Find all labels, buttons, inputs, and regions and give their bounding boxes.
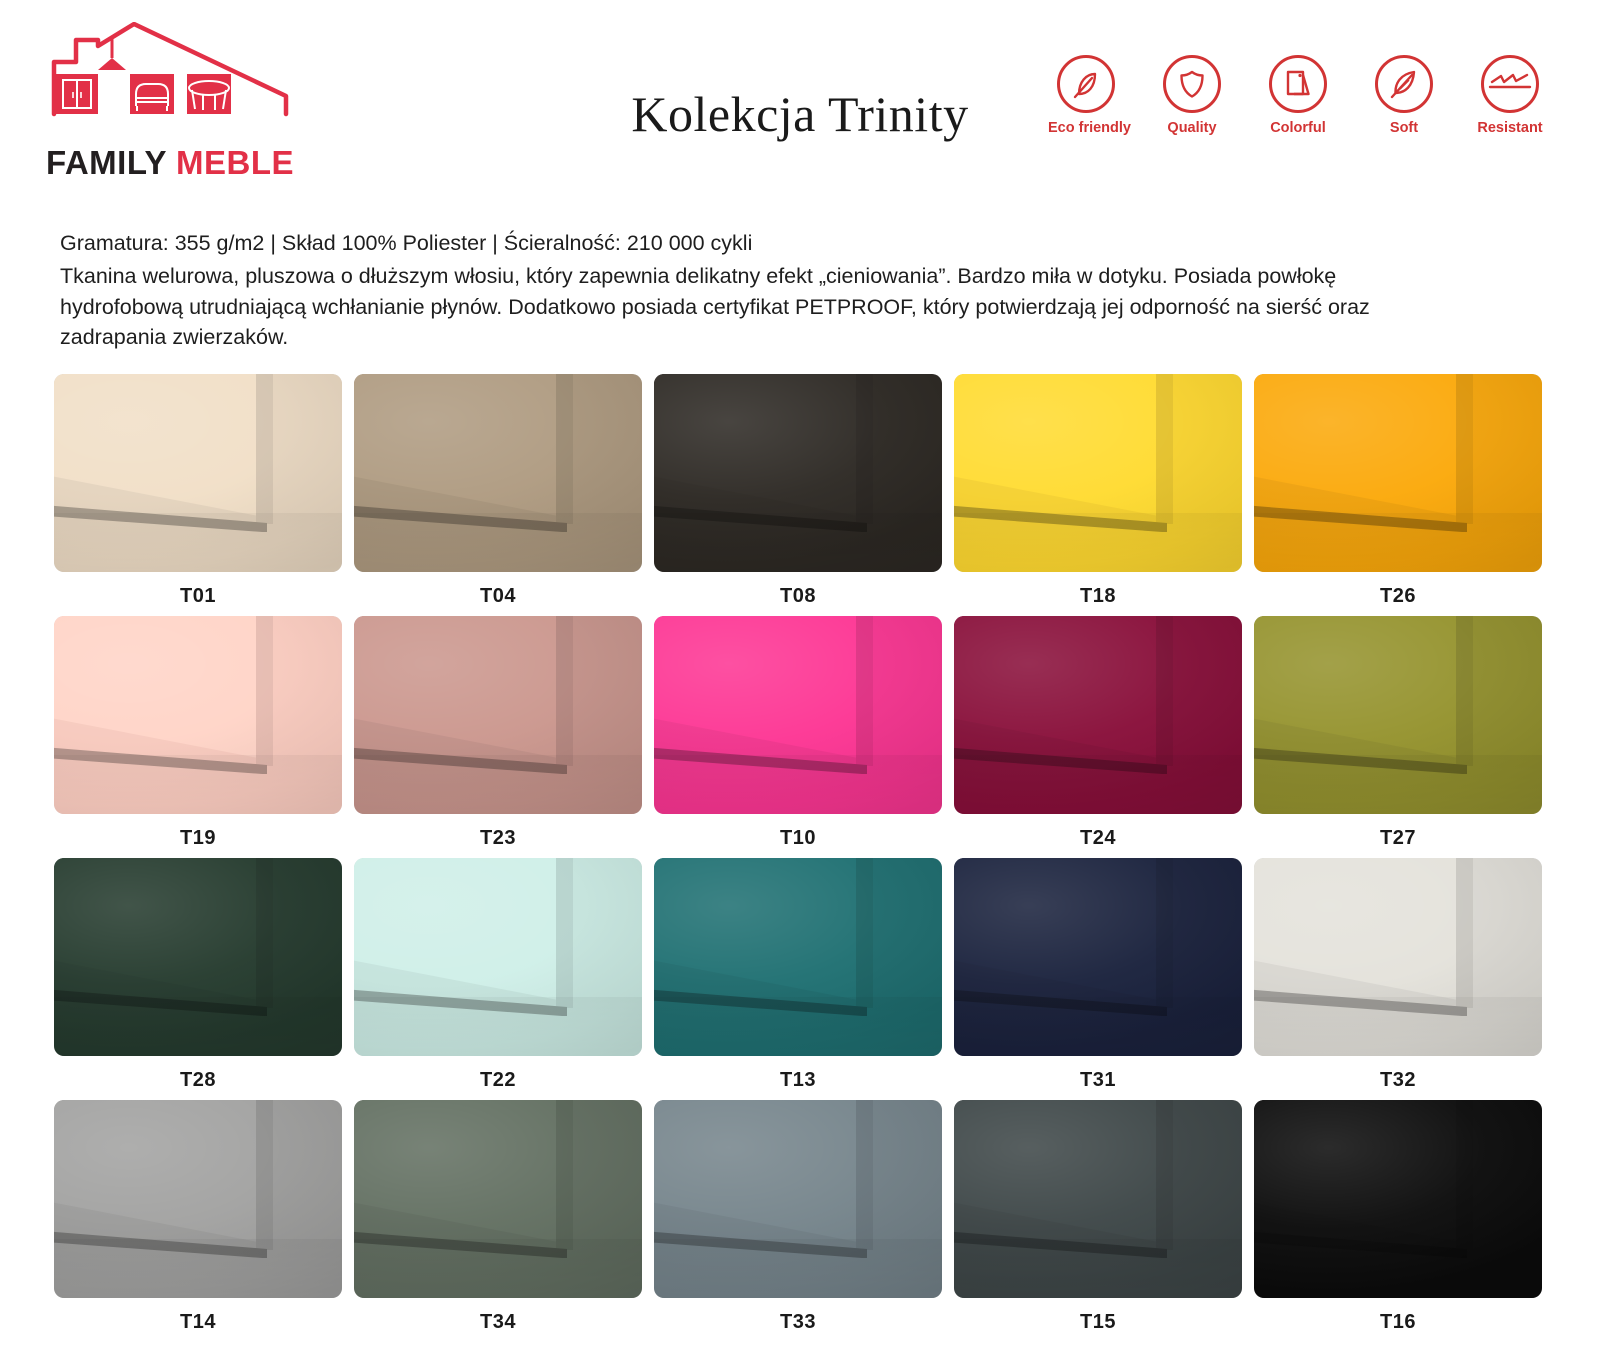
swatch-cell: T34: [354, 1100, 642, 1334]
swatch-cell: T13: [654, 858, 942, 1092]
swatch-code-label: T16: [1254, 1298, 1542, 1334]
swatch-cell: T33: [654, 1100, 942, 1334]
swatch-sheen: [654, 374, 942, 572]
swatch-cell: T19: [54, 616, 342, 850]
swatch-sheen: [54, 858, 342, 1056]
fabric-swatch[interactable]: [654, 1100, 942, 1298]
swatch-cell: T23: [354, 616, 642, 850]
fabric-swatch[interactable]: [54, 858, 342, 1056]
swatch-cell: T15: [954, 1100, 1242, 1334]
feather-icon: [1375, 55, 1433, 113]
swatch-code-label: T08: [654, 572, 942, 608]
shield-icon: [1163, 55, 1221, 113]
swatch-row: T01T04T08T18T26: [54, 374, 1548, 608]
badge-eco-friendly: Eco friendly: [1048, 55, 1124, 136]
fabric-swatch[interactable]: [654, 616, 942, 814]
fabric-description-text: Tkanina welurowa, pluszowa o dłuższym wł…: [60, 261, 1430, 353]
fabric-swatch[interactable]: [954, 1100, 1242, 1298]
fabric-swatch[interactable]: [54, 374, 342, 572]
swatch-cell: T01: [54, 374, 342, 608]
swatch-row: T28T22T13T31T32: [54, 858, 1548, 1092]
color-swatch-icon: [1269, 55, 1327, 113]
fabric-swatch[interactable]: [1254, 1100, 1542, 1298]
swatch-code-label: T10: [654, 814, 942, 850]
swatch-code-label: T32: [1254, 1056, 1542, 1092]
fabric-swatch[interactable]: [354, 374, 642, 572]
swatch-row: T14T34T33T15T16: [54, 1100, 1548, 1334]
swatch-code-label: T26: [1254, 572, 1542, 608]
swatch-sheen: [654, 616, 942, 814]
brand-wordmark: FAMILY MEBLE: [46, 146, 346, 179]
swatch-code-label: T18: [954, 572, 1242, 608]
swatch-sheen: [354, 1100, 642, 1298]
badge-label: Resistant: [1472, 120, 1548, 136]
swatch-cell: T04: [354, 374, 642, 608]
fabric-swatch[interactable]: [54, 616, 342, 814]
swatch-sheen: [354, 616, 642, 814]
swatch-sheen: [654, 858, 942, 1056]
swatch-cell: T08: [654, 374, 942, 608]
brand-name-meble: MEBLE: [176, 144, 294, 181]
zigzag-wave-icon: [1481, 55, 1539, 113]
fabric-swatch[interactable]: [354, 858, 642, 1056]
swatch-sheen: [354, 858, 642, 1056]
fabric-swatch[interactable]: [954, 616, 1242, 814]
swatch-code-label: T28: [54, 1056, 342, 1092]
swatch-sheen: [954, 616, 1242, 814]
swatch-code-label: T33: [654, 1298, 942, 1334]
swatch-code-label: T13: [654, 1056, 942, 1092]
badge-resistant: Resistant: [1472, 55, 1548, 136]
fabric-swatch[interactable]: [354, 1100, 642, 1298]
swatch-sheen: [1254, 374, 1542, 572]
swatch-sheen: [54, 374, 342, 572]
brand-name-family: FAMILY: [46, 144, 166, 181]
page-header: FAMILY MEBLE Kolekcja Trinity Eco friend…: [0, 0, 1600, 200]
brand-logo[interactable]: FAMILY MEBLE: [46, 22, 346, 179]
swatch-code-label: T22: [354, 1056, 642, 1092]
badge-label: Quality: [1154, 120, 1230, 136]
fabric-swatch[interactable]: [654, 374, 942, 572]
swatch-code-label: T04: [354, 572, 642, 608]
swatch-sheen: [954, 858, 1242, 1056]
feature-badges: Eco friendly Quality C: [1048, 55, 1548, 136]
swatch-cell: T10: [654, 616, 942, 850]
swatch-cell: T32: [1254, 858, 1542, 1092]
house-furniture-logo-icon: [46, 22, 294, 142]
swatch-cell: T24: [954, 616, 1242, 850]
swatch-cell: T22: [354, 858, 642, 1092]
swatch-sheen: [354, 374, 642, 572]
swatch-code-label: T01: [54, 572, 342, 608]
swatch-code-label: T15: [954, 1298, 1242, 1334]
swatch-sheen: [1254, 858, 1542, 1056]
swatch-row: T19T23T10T24T27: [54, 616, 1548, 850]
swatch-sheen: [1254, 616, 1542, 814]
fabric-swatch[interactable]: [954, 858, 1242, 1056]
swatch-code-label: T14: [54, 1298, 342, 1334]
swatch-cell: T28: [54, 858, 342, 1092]
leaf-icon: [1057, 55, 1115, 113]
swatch-code-label: T34: [354, 1298, 642, 1334]
swatch-sheen: [54, 616, 342, 814]
fabric-swatch[interactable]: [654, 858, 942, 1056]
swatch-sheen: [954, 374, 1242, 572]
swatch-sheen: [954, 1100, 1242, 1298]
fabric-swatch[interactable]: [954, 374, 1242, 572]
swatch-grid: T01T04T08T18T26T19T23T10T24T27T28T22T13T…: [54, 374, 1548, 1334]
swatch-cell: T14: [54, 1100, 342, 1334]
badge-soft: Soft: [1366, 55, 1442, 136]
swatch-sheen: [654, 1100, 942, 1298]
fabric-swatch[interactable]: [1254, 374, 1542, 572]
product-description: Gramatura: 355 g/m2 | Skład 100% Poliest…: [60, 228, 1460, 353]
swatch-code-label: T27: [1254, 814, 1542, 850]
fabric-swatch[interactable]: [1254, 858, 1542, 1056]
badge-colorful: Colorful: [1260, 55, 1336, 136]
swatch-code-label: T23: [354, 814, 642, 850]
swatch-code-label: T19: [54, 814, 342, 850]
swatch-cell: T26: [1254, 374, 1542, 608]
swatch-cell: T18: [954, 374, 1242, 608]
swatch-code-label: T31: [954, 1056, 1242, 1092]
swatch-cell: T27: [1254, 616, 1542, 850]
swatch-sheen: [1254, 1100, 1542, 1298]
fabric-swatch[interactable]: [354, 616, 642, 814]
fabric-specs: Gramatura: 355 g/m2 | Skład 100% Poliest…: [60, 228, 1460, 259]
fabric-collection-page: FAMILY MEBLE Kolekcja Trinity Eco friend…: [0, 0, 1600, 1355]
swatch-cell: T16: [1254, 1100, 1542, 1334]
swatch-sheen: [54, 1100, 342, 1298]
swatch-cell: T31: [954, 858, 1242, 1092]
badge-label: Colorful: [1260, 120, 1336, 136]
badge-label: Soft: [1366, 120, 1442, 136]
badge-label: Eco friendly: [1048, 120, 1124, 136]
badge-quality: Quality: [1154, 55, 1230, 136]
fabric-swatch[interactable]: [54, 1100, 342, 1298]
fabric-swatch[interactable]: [1254, 616, 1542, 814]
swatch-code-label: T24: [954, 814, 1242, 850]
